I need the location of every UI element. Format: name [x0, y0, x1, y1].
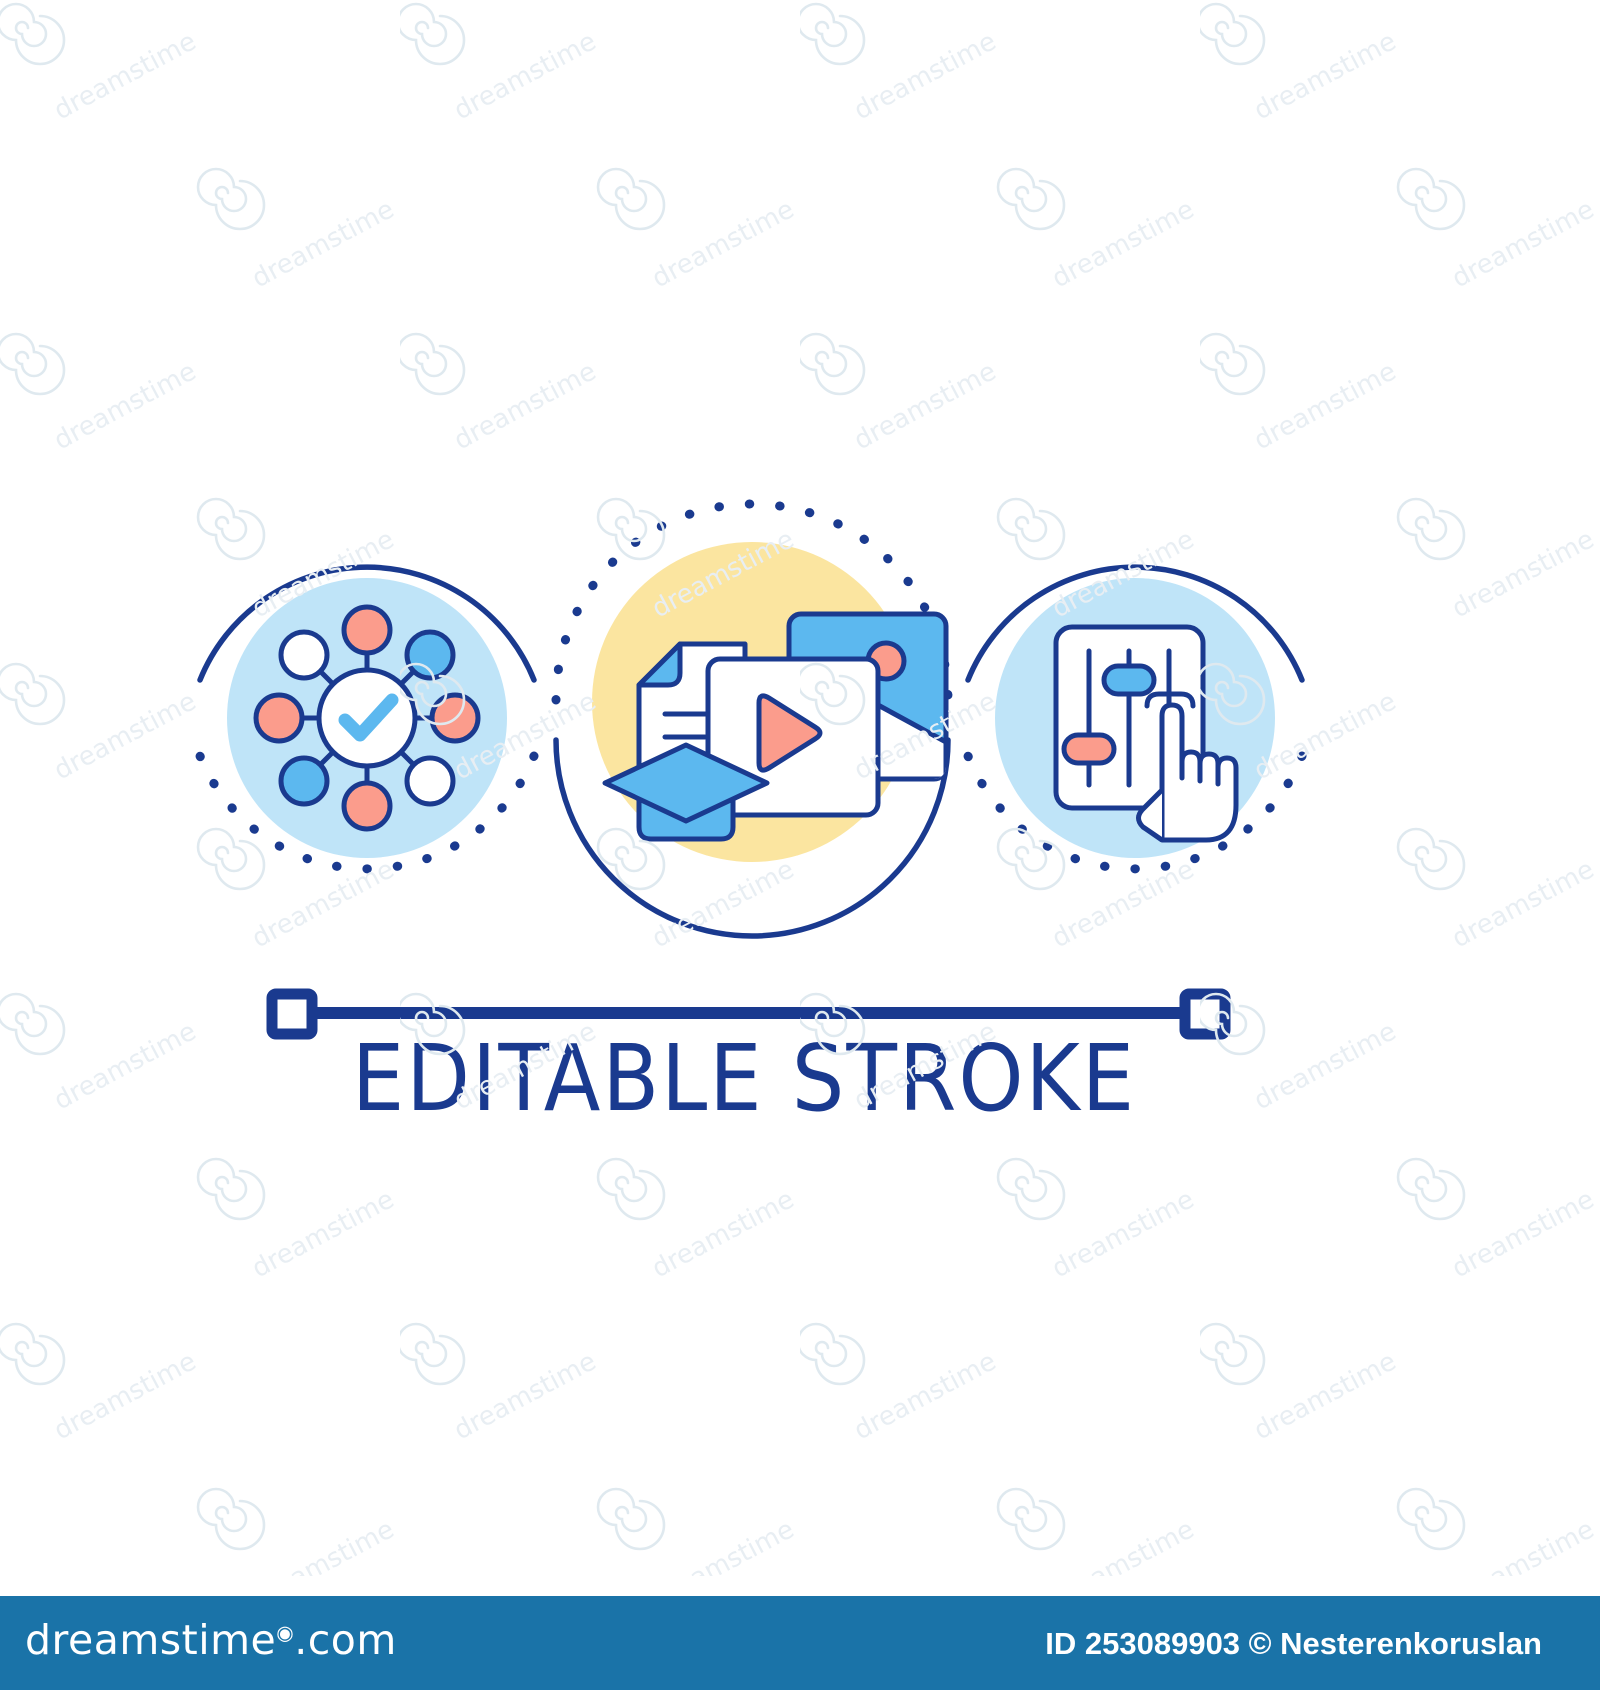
stroke-endpoint-left	[272, 994, 312, 1034]
network-node	[407, 758, 453, 804]
concept-learning-media	[556, 504, 948, 936]
slider-knob[interactable]	[1104, 666, 1154, 694]
footer-bar: dreamstime◉.com ID 253089903 © Nesterenk…	[0, 1596, 1600, 1690]
logo-word: dreamstime	[25, 1616, 276, 1664]
logo-suffix: .com	[294, 1616, 397, 1664]
dreamstime-logo[interactable]: dreamstime◉.com	[25, 1616, 397, 1664]
page-title: EDITABLE STROKE	[352, 1025, 1136, 1132]
stroke-endpoint-right	[1185, 994, 1225, 1034]
logo-spiral-icon: ◉	[276, 1620, 294, 1644]
slider-knob[interactable]	[1064, 735, 1114, 763]
network-node	[407, 632, 453, 678]
concept-illustration: EDITABLE STROKE	[0, 0, 1600, 1576]
network-node	[344, 607, 390, 653]
network-node	[256, 695, 302, 741]
image-credit: ID 253089903 © Nesterenkoruslan	[1045, 1626, 1542, 1662]
concept-settings-control	[968, 567, 1302, 869]
network-node	[344, 783, 390, 829]
network-node	[281, 632, 327, 678]
concept-network-validation	[200, 567, 534, 869]
network-node	[281, 758, 327, 804]
network-node	[432, 695, 478, 741]
